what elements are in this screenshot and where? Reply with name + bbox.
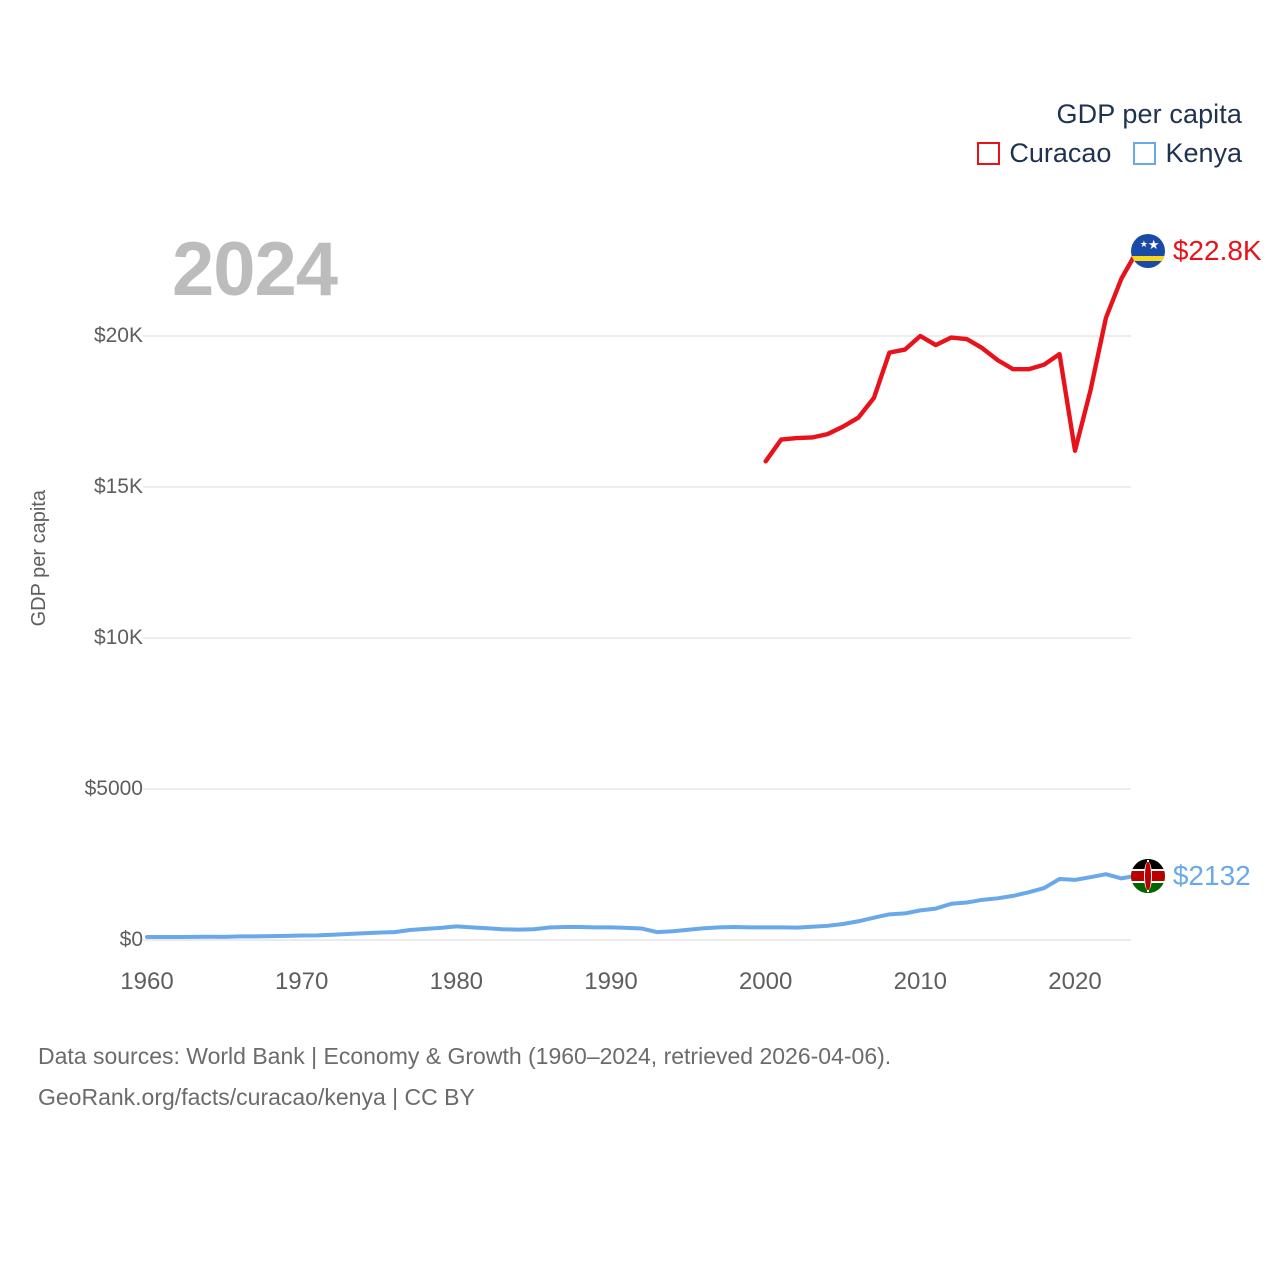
x-tick-label: 1970 (275, 968, 328, 996)
x-tick-label: 1980 (430, 968, 483, 996)
y-tick-label: $20K (94, 324, 143, 348)
gridlines (143, 336, 1131, 940)
star-icon: ★ (1140, 240, 1148, 249)
flag-shield (1144, 862, 1152, 890)
y-tick-label: $0 (120, 928, 143, 952)
plot-svg (0, 0, 1280, 1010)
x-tick-label: 2000 (739, 968, 792, 996)
y-tick-label: $10K (94, 626, 143, 650)
flag-stripe (1131, 256, 1165, 261)
x-tick-label: 1990 (584, 968, 637, 996)
curacao-flag-icon: ★ ★ (1131, 234, 1165, 268)
star-icon: ★ (1148, 238, 1160, 251)
endpoint-value-kenya: $2132 (1173, 862, 1251, 890)
footer-line-2: GeoRank.org/facts/curacao/kenya | CC BY (38, 1077, 891, 1118)
chart-page: GDP per capita Curacao Kenya 2024 $20K$1… (0, 0, 1280, 1280)
footer-attribution: Data sources: World Bank | Economy & Gro… (38, 1036, 891, 1118)
endpoint-marker-kenya[interactable]: $2132 (1131, 859, 1251, 893)
footer-line-1: Data sources: World Bank | Economy & Gro… (38, 1036, 891, 1077)
endpoint-value-curacao: $22.8K (1173, 237, 1262, 265)
kenya-flag-icon (1131, 859, 1165, 893)
x-tick-label: 1960 (120, 968, 173, 996)
series-line-curacao[interactable] (766, 251, 1137, 461)
x-tick-label: 2010 (894, 968, 947, 996)
plot-area (0, 0, 1280, 1010)
endpoint-marker-curacao[interactable]: ★ ★ $22.8K (1131, 234, 1262, 268)
x-axis-tick-labels: 1960197019801990200020102020 (0, 968, 1280, 1008)
y-axis-title: GDP per capita (28, 490, 51, 626)
y-tick-label: $15K (94, 475, 143, 499)
y-axis-tick-labels: $20K$15K$10K$5000$0 (0, 0, 143, 1010)
series-line-kenya[interactable] (147, 874, 1137, 937)
x-tick-label: 2020 (1048, 968, 1101, 996)
series-lines (147, 251, 1137, 937)
y-tick-label: $5000 (85, 777, 143, 801)
